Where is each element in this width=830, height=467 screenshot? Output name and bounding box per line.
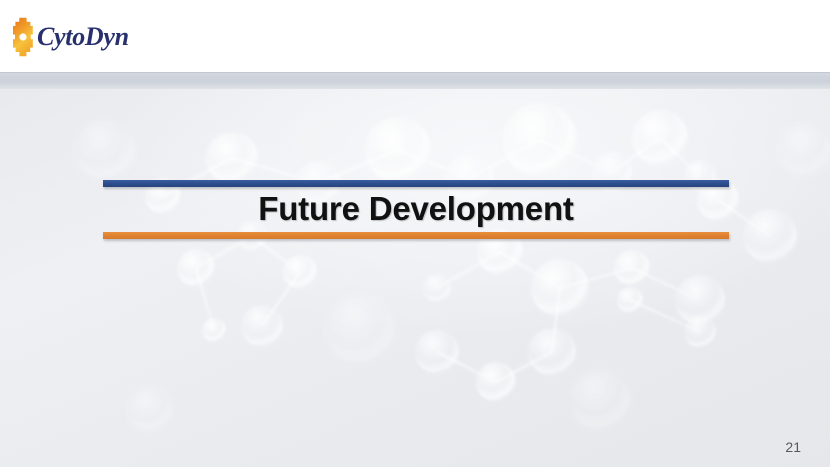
title-block: Future Development <box>103 180 729 238</box>
title-rule-bottom <box>103 232 729 239</box>
cytodyn-logo-mark <box>10 17 36 57</box>
molecule-bubbles-watermark <box>0 89 830 467</box>
cytodyn-wordmark: CytoDyn <box>37 24 129 50</box>
page-number: 21 <box>785 439 801 455</box>
slide-title: Future Development <box>103 186 729 232</box>
cytodyn-logo[interactable]: CytoDyn <box>10 17 129 57</box>
slide-body-background <box>0 89 830 467</box>
header-divider <box>0 72 830 89</box>
slide-future-development: Future Development CytoDyn 21 <box>0 0 830 467</box>
